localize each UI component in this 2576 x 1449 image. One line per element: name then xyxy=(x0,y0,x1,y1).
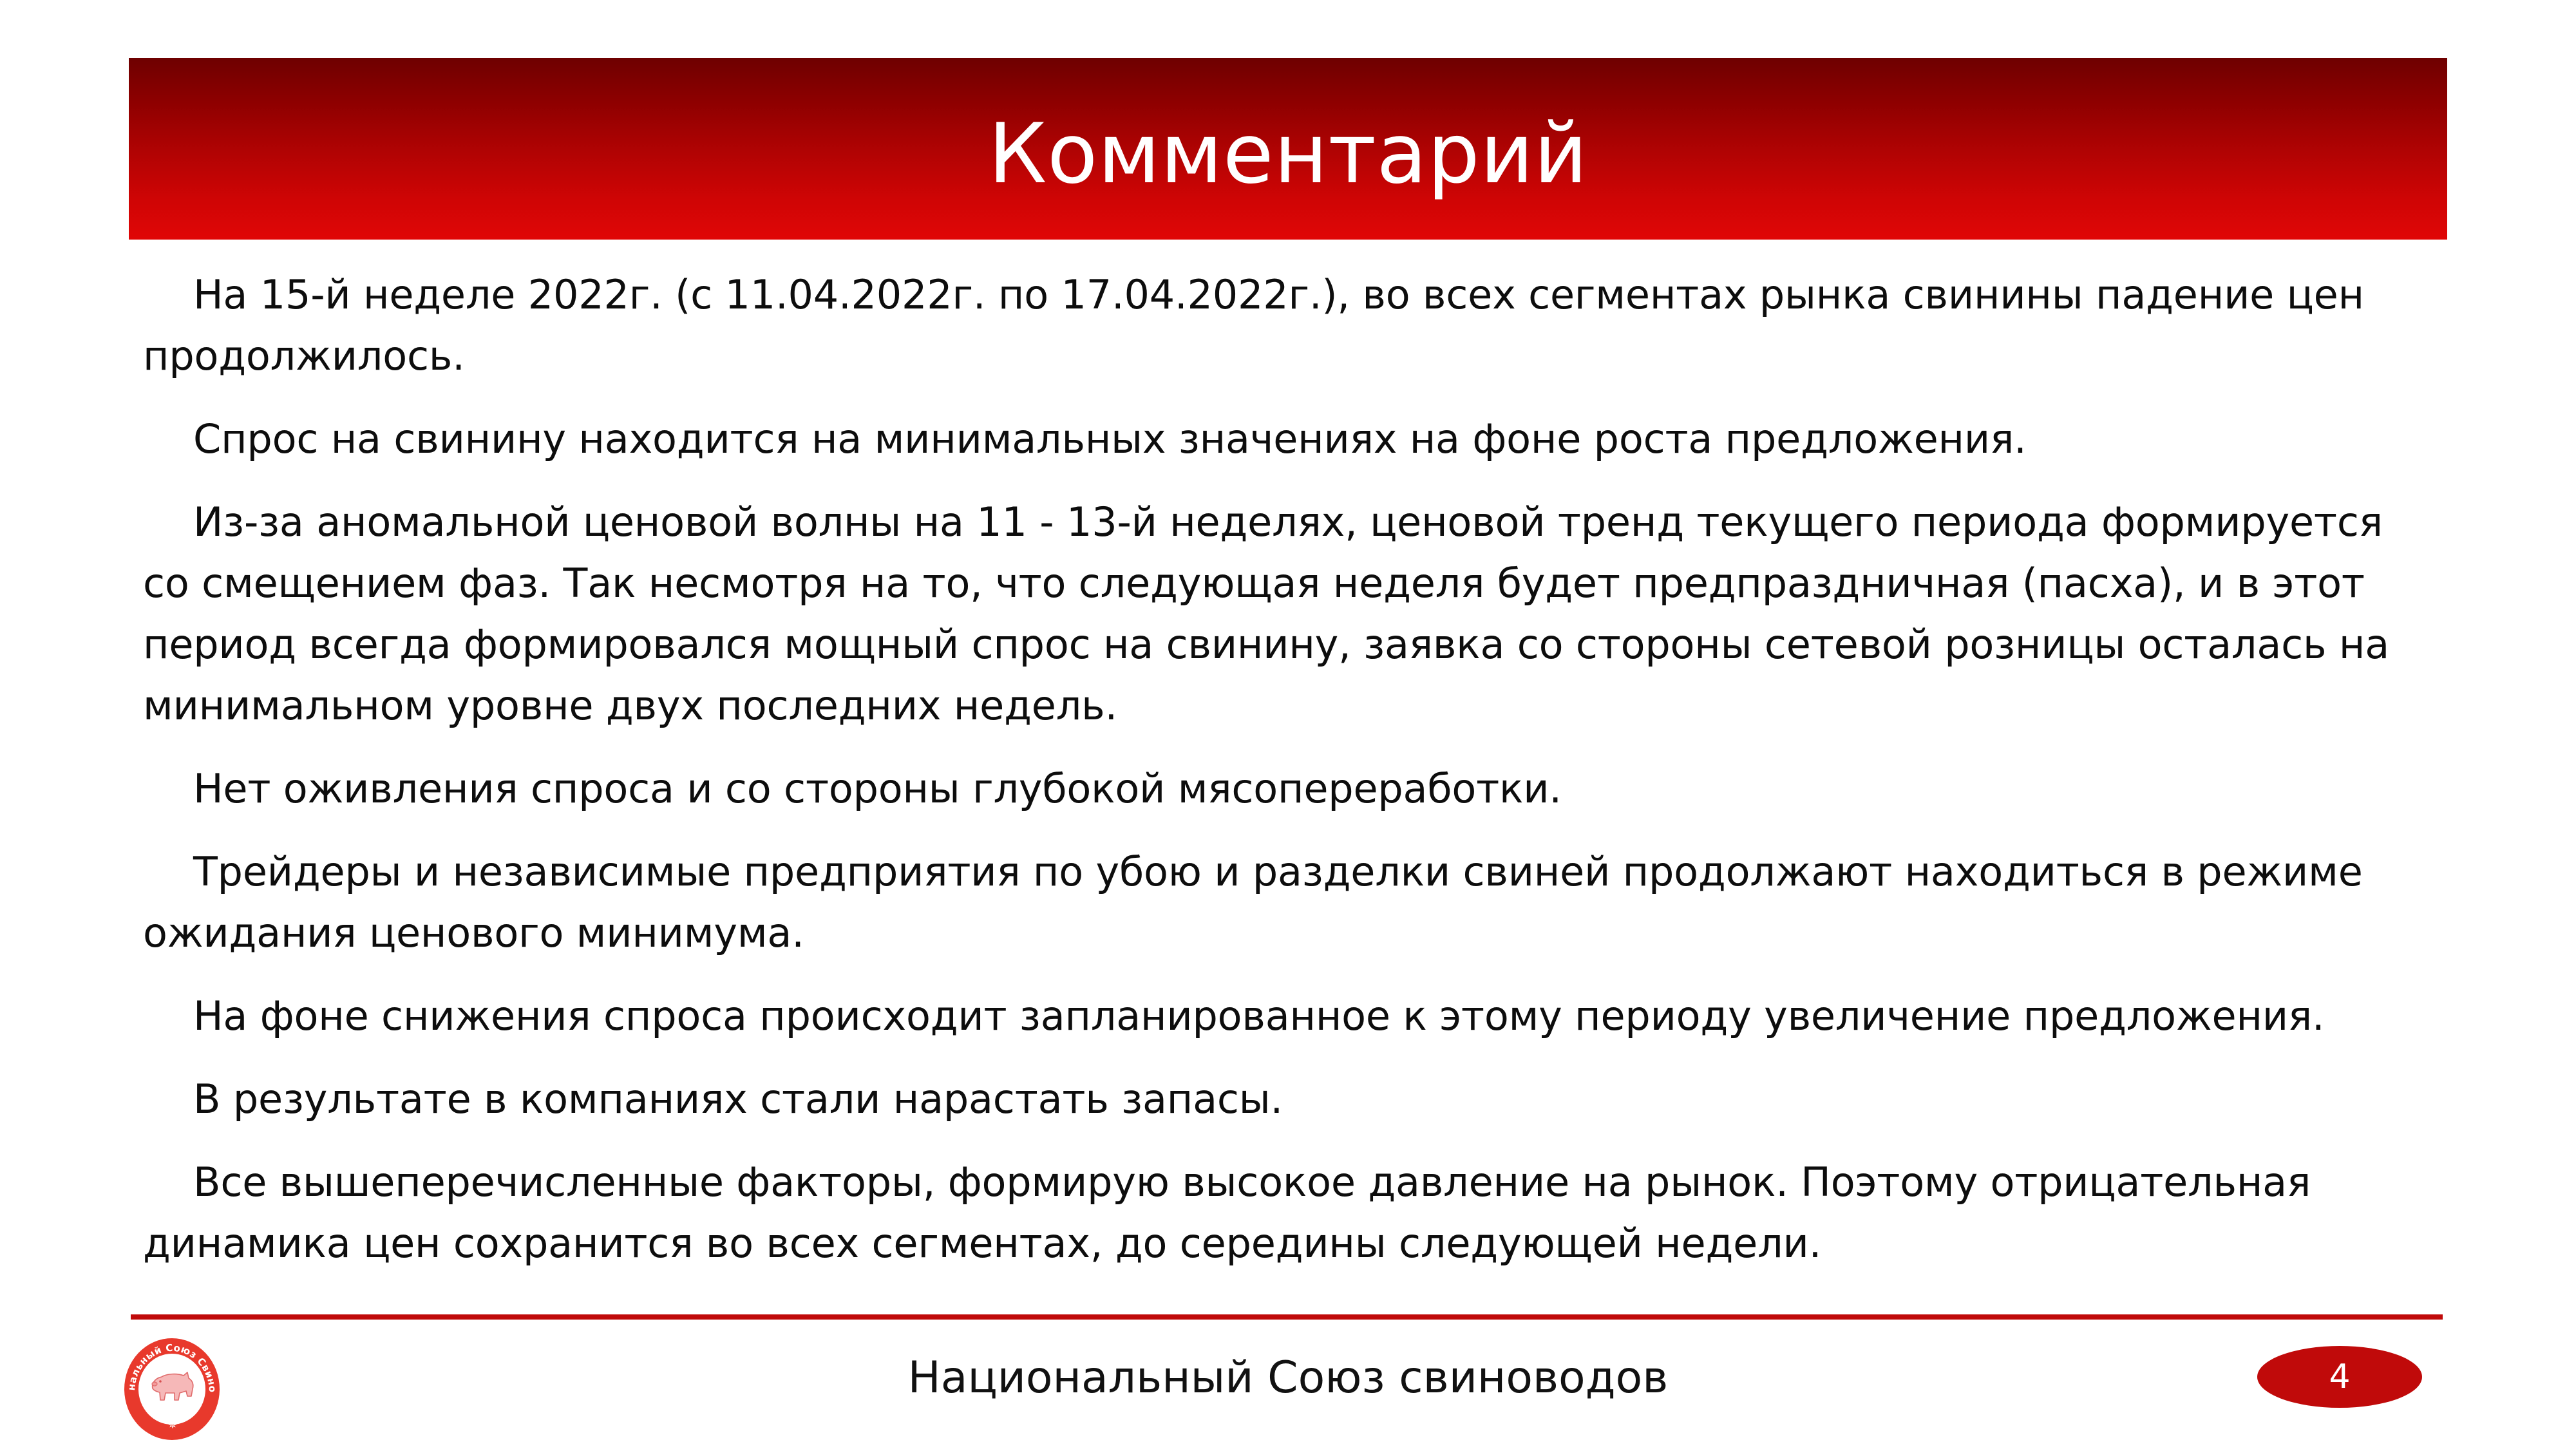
page-number: 4 xyxy=(2329,1360,2350,1394)
page-title: Комментарий xyxy=(989,113,1588,196)
body-paragraph: На 15-й неделе 2022г. (с 11.04.2022г. по… xyxy=(143,264,2436,386)
body-paragraph: На фоне снижения спроса происходит запла… xyxy=(143,985,2436,1046)
slide-body: На 15-й неделе 2022г. (с 11.04.2022г. по… xyxy=(143,264,2436,1296)
slide-title-banner: Комментарий xyxy=(129,58,2447,240)
footer-caption: Национальный Союз свиноводов xyxy=(0,1352,2576,1404)
seal-star-icon: ✵ xyxy=(167,1419,178,1431)
body-paragraph: Все вышеперечисленные факторы, формирую … xyxy=(143,1151,2436,1274)
page-number-badge: 4 xyxy=(2257,1346,2422,1408)
body-paragraph: В результате в компаниях стали нарастать… xyxy=(143,1068,2436,1130)
body-paragraph: Из-за аномальной ценовой волны на 11 - 1… xyxy=(143,491,2436,736)
body-paragraph: Трейдеры и независимые предприятия по уб… xyxy=(143,841,2436,963)
body-paragraph: Спрос на свинину находится на минимальны… xyxy=(143,408,2436,469)
footer-divider xyxy=(131,1314,2443,1320)
body-paragraph: Нет оживления спроса и со стороны глубок… xyxy=(143,758,2436,819)
